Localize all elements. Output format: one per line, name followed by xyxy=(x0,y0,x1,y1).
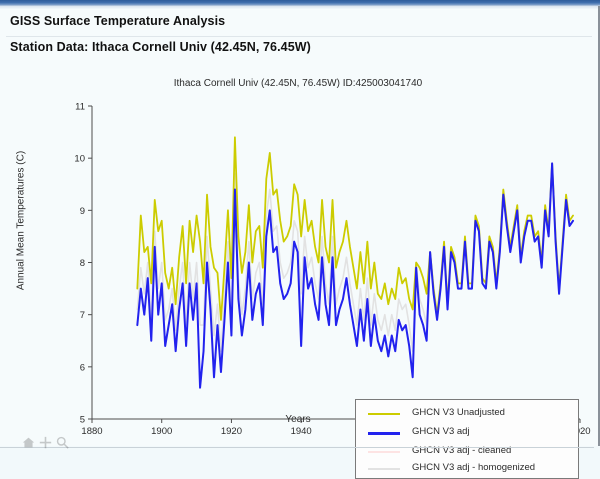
svg-text:10: 10 xyxy=(74,154,85,165)
magnifier-icon[interactable] xyxy=(56,436,69,449)
svg-text:9: 9 xyxy=(80,206,85,217)
chart-svg[interactable]: 5678910111880190019201940196019802000202… xyxy=(0,69,596,434)
legend-item-homogenized[interactable]: GHCN V3 adj - homogenized xyxy=(356,459,580,479)
header-divider xyxy=(6,36,592,37)
svg-text:6: 6 xyxy=(80,362,85,373)
legend-label-unadjusted: GHCN V3 Unadjusted xyxy=(412,407,505,418)
series-line-ghcn-v3-adj-homogenized xyxy=(137,163,573,351)
svg-text:7: 7 xyxy=(80,310,85,321)
move-cross-icon[interactable] xyxy=(39,436,52,449)
page-content: GISS Surface Temperature Analysis Statio… xyxy=(0,9,598,446)
page-title: GISS Surface Temperature Analysis xyxy=(10,14,225,28)
application-window: GISS Surface Temperature Analysis Statio… xyxy=(0,0,600,446)
legend-label-homogenized: GHCN V3 adj - homogenized xyxy=(412,462,535,473)
temperature-chart-figure: Ithaca Cornell Univ (42.45N, 76.45W) ID:… xyxy=(0,69,596,434)
toolbar-divider xyxy=(0,447,594,448)
plot-area[interactable]: 5678910111880190019201940196019802000202… xyxy=(0,69,596,434)
y-axis-label: Annual Mean Temperatures (C) xyxy=(16,121,27,321)
legend-swatch-unadjusted xyxy=(368,413,400,415)
legend-item-unadjusted[interactable]: GHCN V3 Unadjusted xyxy=(356,404,580,424)
home-icon[interactable] xyxy=(22,436,35,449)
navigation-toolbar xyxy=(0,433,596,453)
svg-text:8: 8 xyxy=(80,258,85,269)
station-heading: Station Data: Ithaca Cornell Univ (42.45… xyxy=(10,40,311,54)
svg-text:11: 11 xyxy=(75,102,85,113)
legend-swatch-homogenized xyxy=(368,468,400,470)
